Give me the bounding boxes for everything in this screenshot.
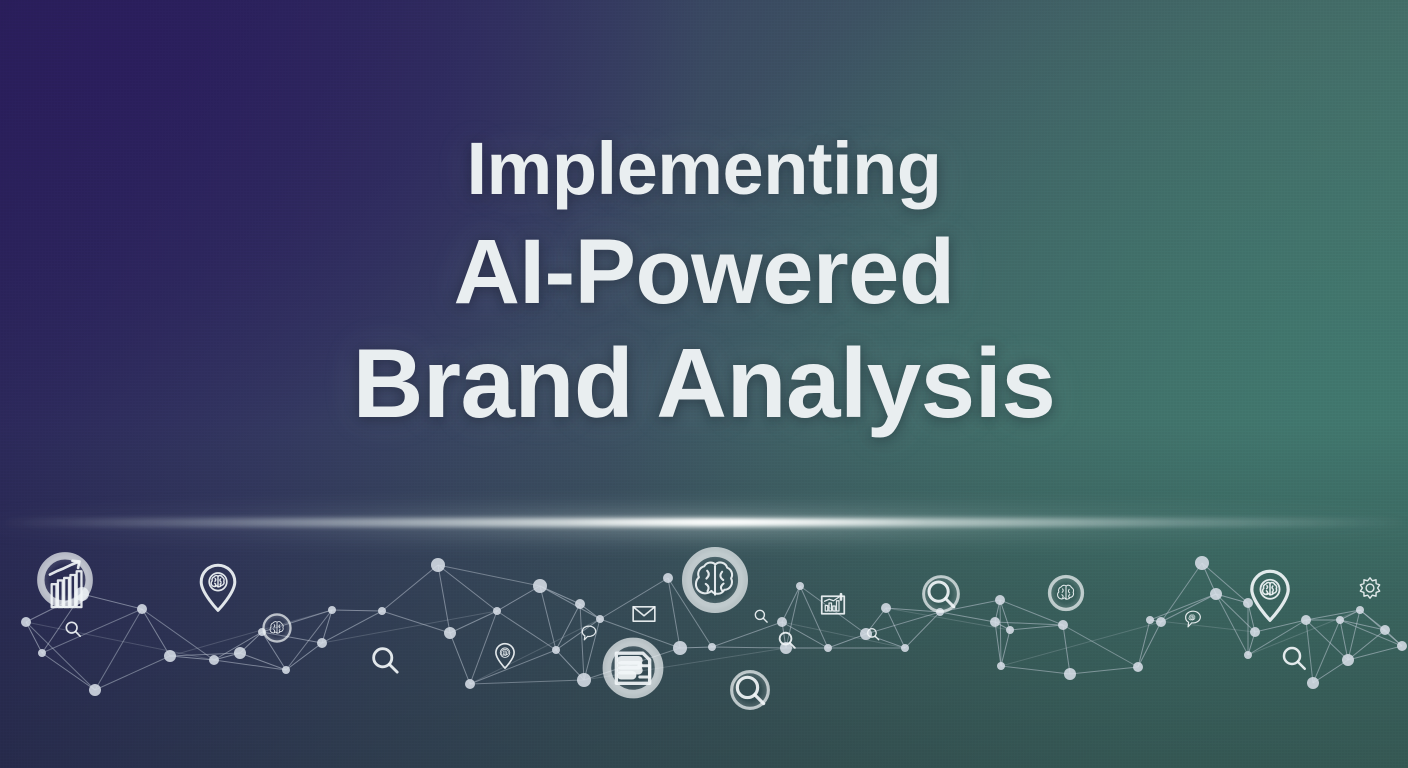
title-line-1: Implementing xyxy=(0,132,1408,206)
network-node xyxy=(431,558,445,572)
network-node xyxy=(444,627,456,639)
network-node xyxy=(673,641,687,655)
title-line-3: Brand Analysis xyxy=(0,334,1408,432)
network-node xyxy=(997,662,1005,670)
network-node xyxy=(1210,588,1222,600)
network-node xyxy=(824,644,832,652)
network-node xyxy=(1380,625,1390,635)
network-node xyxy=(164,650,176,662)
network-node xyxy=(493,607,501,615)
search-icon xyxy=(922,575,960,613)
network-node xyxy=(1250,627,1260,637)
network-node xyxy=(317,638,327,648)
gear-icon xyxy=(1360,578,1379,598)
document-report-icon xyxy=(605,640,662,697)
network-node xyxy=(282,666,290,674)
network-node xyxy=(1006,626,1014,634)
search-icon xyxy=(730,670,770,710)
search-icon xyxy=(374,649,398,673)
network-node xyxy=(21,617,31,627)
network-node xyxy=(990,617,1000,627)
network-node xyxy=(1064,668,1076,680)
network-node xyxy=(209,655,219,665)
network-node xyxy=(1243,598,1253,608)
search-icon xyxy=(1284,648,1305,669)
network-icons xyxy=(39,550,1380,710)
chat-bubble-icon xyxy=(582,626,595,640)
network-node xyxy=(465,679,475,689)
location-pin-brain-icon xyxy=(201,565,235,610)
brain-circle-icon xyxy=(685,550,746,611)
network-node xyxy=(89,684,101,696)
network-node xyxy=(577,673,591,687)
network-node xyxy=(552,646,560,654)
network-node xyxy=(137,604,147,614)
network-node xyxy=(328,606,336,614)
brain-circle-small-icon xyxy=(1048,575,1084,611)
network-node xyxy=(533,579,547,593)
network-node xyxy=(1307,677,1319,689)
network-node xyxy=(575,599,585,609)
title-line-2: AI-Powered xyxy=(0,226,1408,318)
network-node xyxy=(1301,615,1311,625)
location-pin-brain-icon xyxy=(1252,571,1288,620)
network-node xyxy=(1133,662,1143,672)
network-node xyxy=(1195,556,1209,570)
network-node xyxy=(596,615,604,623)
network-node xyxy=(995,595,1005,605)
network-node xyxy=(1342,654,1354,666)
network-node xyxy=(1156,617,1166,627)
network-node xyxy=(1058,620,1068,630)
network-node xyxy=(901,644,909,652)
network-node xyxy=(1397,641,1407,651)
network-node xyxy=(234,647,246,659)
network-node xyxy=(777,617,787,627)
page-title: Implementing AI-Powered Brand Analysis xyxy=(0,132,1408,432)
search-icon xyxy=(755,610,767,622)
network-node xyxy=(1244,651,1252,659)
network-node xyxy=(881,603,891,613)
hero-banner: Implementing AI-Powered Brand Analysis xyxy=(0,0,1408,768)
network-node xyxy=(1146,616,1154,624)
search-icon xyxy=(66,622,80,636)
network-node xyxy=(796,582,804,590)
brain-circle-small-icon xyxy=(262,613,291,642)
network-node xyxy=(708,643,716,651)
location-pin-brain-icon xyxy=(496,644,514,668)
envelope-icon xyxy=(633,607,655,621)
network-node xyxy=(860,628,872,640)
network-node xyxy=(38,649,46,657)
bar-chart-growth-icon xyxy=(39,554,92,607)
network-node xyxy=(663,573,673,583)
network-node xyxy=(1336,616,1344,624)
network-node xyxy=(378,607,386,615)
network-node xyxy=(1356,606,1364,614)
